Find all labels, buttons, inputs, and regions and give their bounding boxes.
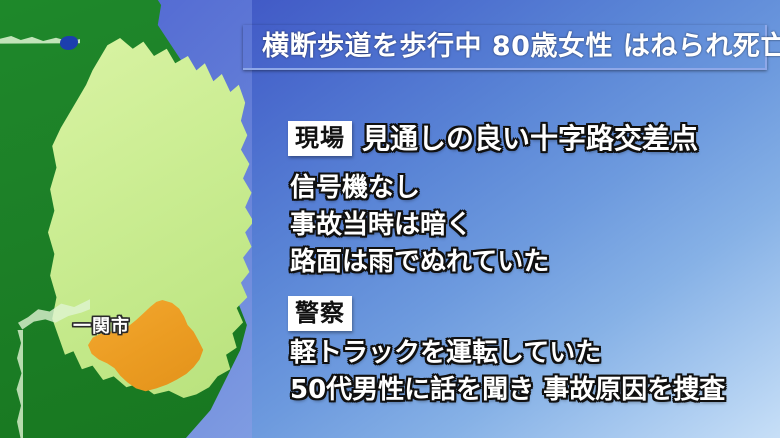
scene-detail-line: 事故当時は暗く — [290, 207, 549, 244]
scene-value-text: 見通しの良い十字路交差点 — [362, 125, 698, 153]
scene-tag-label: 現場 — [288, 121, 352, 156]
police-detail-list: 軽トラックを運転していた 50代男性に話を聞き 事故原因を捜査 — [290, 335, 725, 409]
scene-section-header: 現場 見通しの良い十字路交差点 — [288, 121, 698, 156]
police-section-header: 警察 — [288, 296, 352, 331]
police-tag-label: 警察 — [288, 296, 352, 331]
headline-title: 横断歩道を歩行中 80歳女性 はねられ死亡 — [243, 33, 780, 60]
scene-detail-line: 路面は雨でぬれていた — [290, 244, 549, 281]
news-graphic-slide: 一関市 横断歩道を歩行中 80歳女性 はねられ死亡 現場 見通しの良い十字路交差… — [0, 0, 780, 438]
map-city-label: 一関市 — [73, 312, 130, 338]
map-panel: 一関市 — [0, 0, 252, 438]
police-detail-line: 軽トラックを運転していた — [290, 335, 725, 372]
headline-banner: 横断歩道を歩行中 80歳女性 はねられ死亡 — [243, 25, 767, 70]
scene-detail-line: 信号機なし — [290, 170, 549, 207]
police-detail-line: 50代男性に話を聞き 事故原因を捜査 — [290, 372, 725, 409]
scene-detail-list: 信号機なし 事故当時は暗く 路面は雨でぬれていた — [290, 170, 549, 281]
